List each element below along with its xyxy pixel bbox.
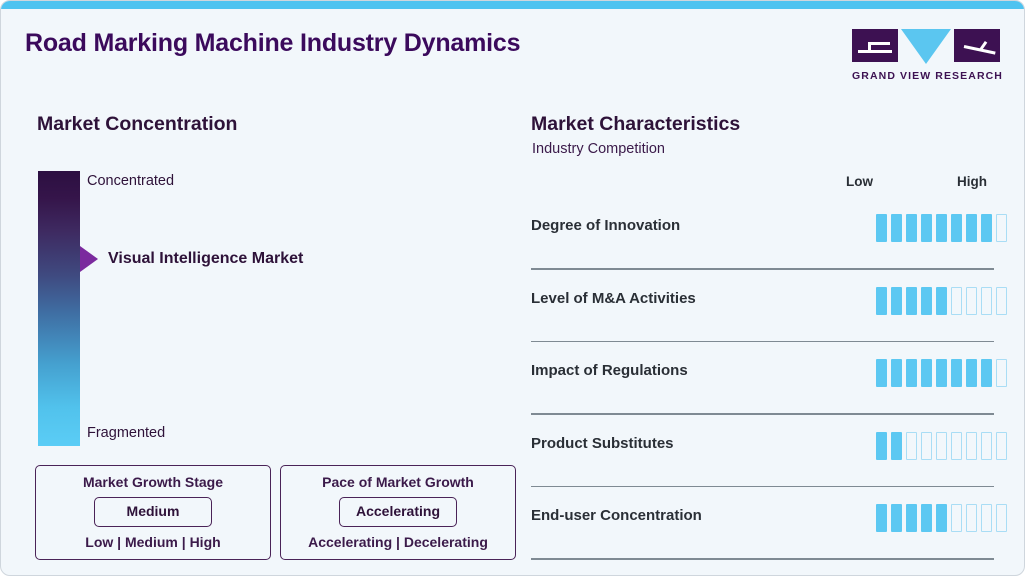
meter-tick-filled bbox=[891, 432, 902, 460]
info-boxes: Market Growth Stage Medium Low | Medium … bbox=[35, 465, 516, 560]
market-growth-stage-box: Market Growth Stage Medium Low | Medium … bbox=[35, 465, 271, 560]
pace-of-market-growth-title: Pace of Market Growth bbox=[293, 474, 503, 490]
characteristic-meter bbox=[876, 287, 1007, 315]
meter-tick-empty bbox=[996, 287, 1007, 315]
characteristic-row: Degree of Innovation bbox=[531, 197, 1007, 270]
characteristic-meter bbox=[876, 504, 1007, 532]
meter-tick-filled bbox=[906, 504, 917, 532]
v-triangle-icon bbox=[901, 29, 951, 64]
meter-tick-filled bbox=[876, 359, 887, 387]
top-accent-bar bbox=[1, 1, 1025, 9]
market-characteristics-subheading: Industry Competition bbox=[532, 141, 665, 157]
pace-of-market-growth-value-pill[interactable]: Accelerating bbox=[339, 497, 457, 527]
meter-tick-filled bbox=[891, 214, 902, 242]
characteristic-meter bbox=[876, 359, 1007, 387]
meter-tick-filled bbox=[936, 359, 947, 387]
meter-tick-empty bbox=[996, 504, 1007, 532]
scale-low-label: Low bbox=[846, 174, 873, 189]
scale-high-label: High bbox=[957, 174, 987, 189]
meter-tick-filled bbox=[966, 214, 977, 242]
meter-tick-filled bbox=[981, 214, 992, 242]
pace-of-market-growth-scale: Accelerating | Decelerating bbox=[293, 534, 503, 550]
meter-tick-filled bbox=[981, 359, 992, 387]
characteristic-row: End-user Concentration bbox=[531, 487, 1007, 560]
meter-tick-filled bbox=[891, 504, 902, 532]
concentrated-label: Concentrated bbox=[87, 173, 174, 189]
market-growth-stage-scale: Low | Medium | High bbox=[48, 534, 258, 550]
meter-tick-filled bbox=[876, 214, 887, 242]
meter-tick-filled bbox=[936, 504, 947, 532]
characteristic-label: Degree of Innovation bbox=[531, 217, 680, 234]
logo-brand-text: GRAND VIEW RESEARCH bbox=[852, 70, 1000, 82]
meter-tick-empty bbox=[951, 432, 962, 460]
meter-tick-filled bbox=[876, 432, 887, 460]
characteristic-label: Product Substitutes bbox=[531, 435, 674, 452]
characteristic-label: Level of M&A Activities bbox=[531, 290, 696, 307]
meter-tick-filled bbox=[936, 287, 947, 315]
meter-tick-filled bbox=[966, 359, 977, 387]
meter-tick-filled bbox=[921, 287, 932, 315]
meter-tick-empty bbox=[966, 504, 977, 532]
characteristics-rows: Degree of InnovationLevel of M&A Activit… bbox=[531, 197, 1007, 560]
page-title: Road Marking Machine Industry Dynamics bbox=[25, 29, 520, 58]
characteristic-row: Product Substitutes bbox=[531, 415, 1007, 488]
characteristic-label: End-user Concentration bbox=[531, 507, 702, 524]
meter-tick-empty bbox=[966, 432, 977, 460]
meter-tick-filled bbox=[921, 214, 932, 242]
meter-tick-filled bbox=[906, 359, 917, 387]
meter-tick-empty bbox=[936, 432, 947, 460]
logo-marks bbox=[852, 29, 1000, 65]
fragmented-label: Fragmented bbox=[87, 425, 165, 441]
right-arrow-icon bbox=[80, 246, 98, 272]
market-characteristics-heading: Market Characteristics bbox=[531, 113, 740, 136]
meter-tick-empty bbox=[966, 287, 977, 315]
characteristic-meter bbox=[876, 214, 1007, 242]
row-divider bbox=[531, 558, 994, 559]
meter-tick-filled bbox=[921, 504, 932, 532]
meter-tick-empty bbox=[906, 432, 917, 460]
market-position-label: Visual Intelligence Market bbox=[108, 250, 303, 268]
market-concentration-section: Market Concentration Concentrated Fragme… bbox=[1, 91, 513, 576]
meter-tick-empty bbox=[981, 432, 992, 460]
meter-tick-empty bbox=[951, 504, 962, 532]
meter-tick-empty bbox=[996, 432, 1007, 460]
meter-tick-filled bbox=[906, 287, 917, 315]
grand-view-research-logo: GRAND VIEW RESEARCH bbox=[852, 29, 1000, 85]
market-growth-stage-title: Market Growth Stage bbox=[48, 474, 258, 490]
meter-tick-empty bbox=[996, 359, 1007, 387]
market-concentration-heading: Market Concentration bbox=[37, 113, 237, 136]
meter-tick-filled bbox=[951, 214, 962, 242]
characteristic-row: Level of M&A Activities bbox=[531, 270, 1007, 343]
meter-tick-empty bbox=[996, 214, 1007, 242]
header: Road Marking Machine Industry Dynamics G… bbox=[1, 9, 1025, 91]
meter-tick-filled bbox=[936, 214, 947, 242]
g-square-icon bbox=[852, 29, 898, 62]
market-growth-stage-value: Medium bbox=[127, 503, 180, 519]
characteristic-row: Impact of Regulations bbox=[531, 342, 1007, 415]
meter-tick-empty bbox=[921, 432, 932, 460]
meter-tick-filled bbox=[921, 359, 932, 387]
meter-tick-filled bbox=[906, 214, 917, 242]
meter-tick-filled bbox=[891, 287, 902, 315]
characteristic-meter bbox=[876, 432, 1007, 460]
meter-tick-filled bbox=[876, 504, 887, 532]
infographic-page: Road Marking Machine Industry Dynamics G… bbox=[0, 0, 1025, 576]
meter-tick-empty bbox=[951, 287, 962, 315]
characteristic-label: Impact of Regulations bbox=[531, 362, 688, 379]
meter-tick-filled bbox=[951, 359, 962, 387]
r-square-icon bbox=[954, 29, 1000, 62]
market-position-marker: Visual Intelligence Market bbox=[80, 246, 303, 272]
market-growth-stage-value-pill[interactable]: Medium bbox=[94, 497, 212, 527]
meter-tick-filled bbox=[891, 359, 902, 387]
concentration-gradient-bar bbox=[38, 171, 80, 446]
meter-tick-filled bbox=[876, 287, 887, 315]
pace-of-market-growth-box: Pace of Market Growth Accelerating Accel… bbox=[280, 465, 516, 560]
meter-tick-empty bbox=[981, 287, 992, 315]
meter-tick-empty bbox=[981, 504, 992, 532]
market-characteristics-section: Market Characteristics Industry Competit… bbox=[513, 91, 1025, 576]
pace-of-market-growth-value: Accelerating bbox=[356, 503, 440, 519]
